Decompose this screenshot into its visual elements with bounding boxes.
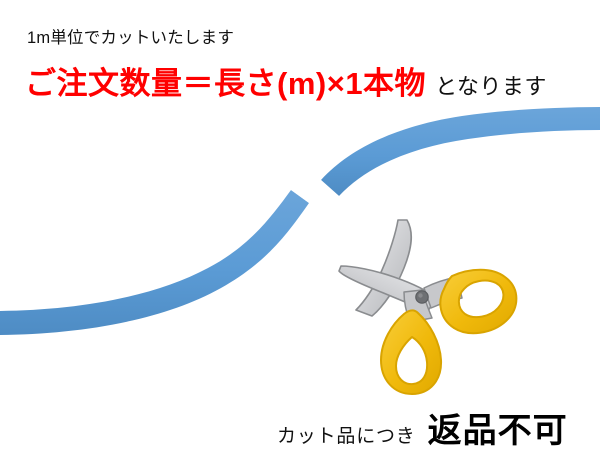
hose-upper-segment	[321, 107, 600, 196]
notice-graphic: 1m単位でカットいたします ご注文数量＝長さ(m)×1本物 となります カット品…	[0, 0, 600, 466]
order-formula-emphasis: ご注文数量＝長さ(m)×1本物	[25, 68, 426, 99]
scissors-handle-right	[440, 270, 516, 333]
return-policy-emphasis: 返品不可	[428, 414, 568, 448]
unit-notice-text: 1m単位でカットいたします	[27, 30, 234, 47]
scissors	[339, 220, 516, 394]
scissors-pivot-screw	[416, 291, 428, 303]
return-policy-line: カット品につき 返品不可	[277, 414, 568, 448]
order-formula-tail: となります	[435, 76, 547, 98]
return-policy-prefix: カット品につき	[277, 427, 416, 446]
hose-lower-segment	[0, 190, 309, 335]
order-formula-line: ご注文数量＝長さ(m)×1本物 となります	[25, 68, 547, 99]
scissors-handle-lower	[381, 310, 441, 394]
